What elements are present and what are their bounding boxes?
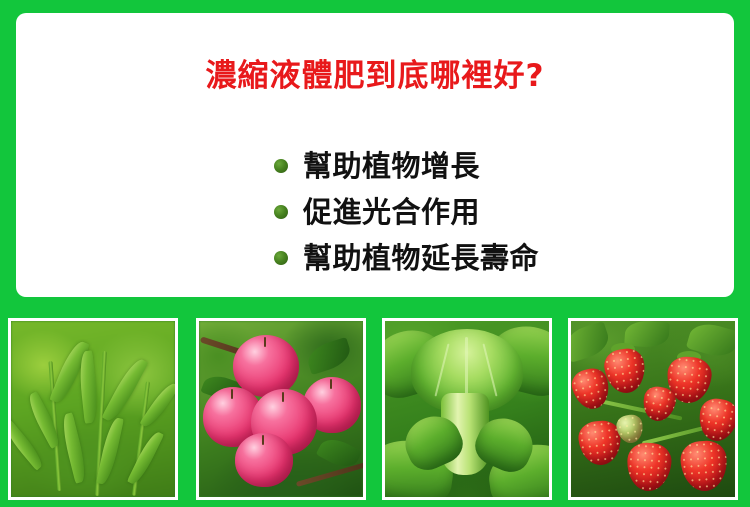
bullet-dot-icon xyxy=(274,251,288,265)
apples-scene xyxy=(199,321,363,497)
photo-strip xyxy=(0,310,750,507)
list-item-label: 促進光合作用 xyxy=(303,198,480,227)
list-item-label: 幫助植物增長 xyxy=(303,152,480,181)
page-title: 濃縮液體肥到底哪裡好? xyxy=(16,59,734,93)
tea-leaves-scene xyxy=(11,321,175,497)
tea-leaves-photo xyxy=(8,318,178,500)
strawberries-photo xyxy=(568,318,738,500)
list-item: 幫助植物延長壽命 xyxy=(274,235,734,281)
promo-banner: 濃縮液體肥到底哪裡好? 幫助植物增長 促進光合作用 幫助植物延長壽命 xyxy=(0,0,750,507)
bok-choy-scene xyxy=(385,321,549,497)
bullet-dot-icon xyxy=(274,205,288,219)
list-item: 促進光合作用 xyxy=(274,189,734,235)
bok-choy-photo xyxy=(382,318,552,500)
list-item-label: 幫助植物延長壽命 xyxy=(303,244,539,273)
bullet-dot-icon xyxy=(274,159,288,173)
benefit-list: 幫助植物增長 促進光合作用 幫助植物延長壽命 xyxy=(274,143,734,281)
strawberries-scene xyxy=(571,321,735,497)
list-item: 幫助植物增長 xyxy=(274,143,734,189)
apples-photo xyxy=(196,318,366,500)
headline-card: 濃縮液體肥到底哪裡好? 幫助植物增長 促進光合作用 幫助植物延長壽命 xyxy=(16,13,734,297)
